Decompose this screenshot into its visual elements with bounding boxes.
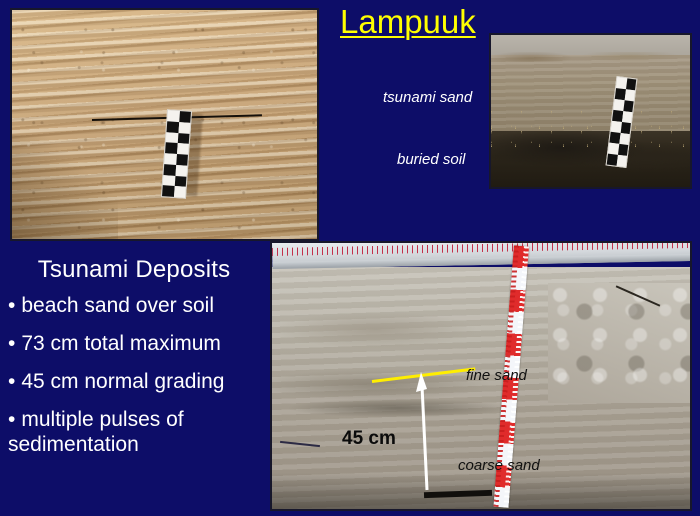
label-buried-soil: buried soil	[397, 151, 465, 168]
layer-contact	[491, 52, 690, 62]
bullet-item-1: •beach sand over soil	[0, 293, 268, 318]
label-coarse-sand: coarse sand	[458, 457, 540, 474]
photo-buried-soil	[489, 33, 692, 189]
text-block: Tsunami Deposits •beach sand over soil •…	[0, 255, 268, 470]
bullet-text: beach sand over soil	[21, 294, 214, 317]
horizontal-measuring-tape	[272, 241, 690, 269]
slide-canvas: Lampuuk	[0, 0, 700, 516]
section-heading: Tsunami Deposits	[0, 255, 268, 285]
bullet-marker: •	[8, 332, 15, 355]
bullet-marker: •	[8, 370, 15, 393]
bullet-text: multiple pulses of sedimentation	[8, 408, 184, 456]
loose-sand-pile	[548, 283, 690, 403]
tape-ticks	[272, 241, 690, 256]
bullet-text: 45 cm normal grading	[21, 370, 224, 393]
bullet-item-4: •multiple pulses of sedimentation	[0, 407, 268, 457]
lamination-3	[289, 393, 531, 423]
photo-beach-sand	[10, 8, 319, 241]
root-traces	[491, 111, 690, 151]
label-tsunami-sand: tsunami sand	[383, 89, 472, 106]
label-fine-sand: fine sand	[466, 367, 527, 384]
bullet-item-3: •45 cm normal grading	[0, 369, 268, 394]
label-thickness-45cm: 45 cm	[342, 428, 396, 450]
bullet-text: 73 cm total maximum	[21, 332, 221, 355]
page-title: Lampuuk	[340, 3, 476, 41]
bullet-item-2: •73 cm total maximum	[0, 331, 268, 356]
lamination-1	[272, 303, 531, 357]
bullet-marker: •	[8, 408, 15, 431]
photo-shadow	[10, 135, 118, 241]
bullet-marker: •	[8, 294, 15, 317]
grading-arrow-icon	[415, 370, 435, 492]
